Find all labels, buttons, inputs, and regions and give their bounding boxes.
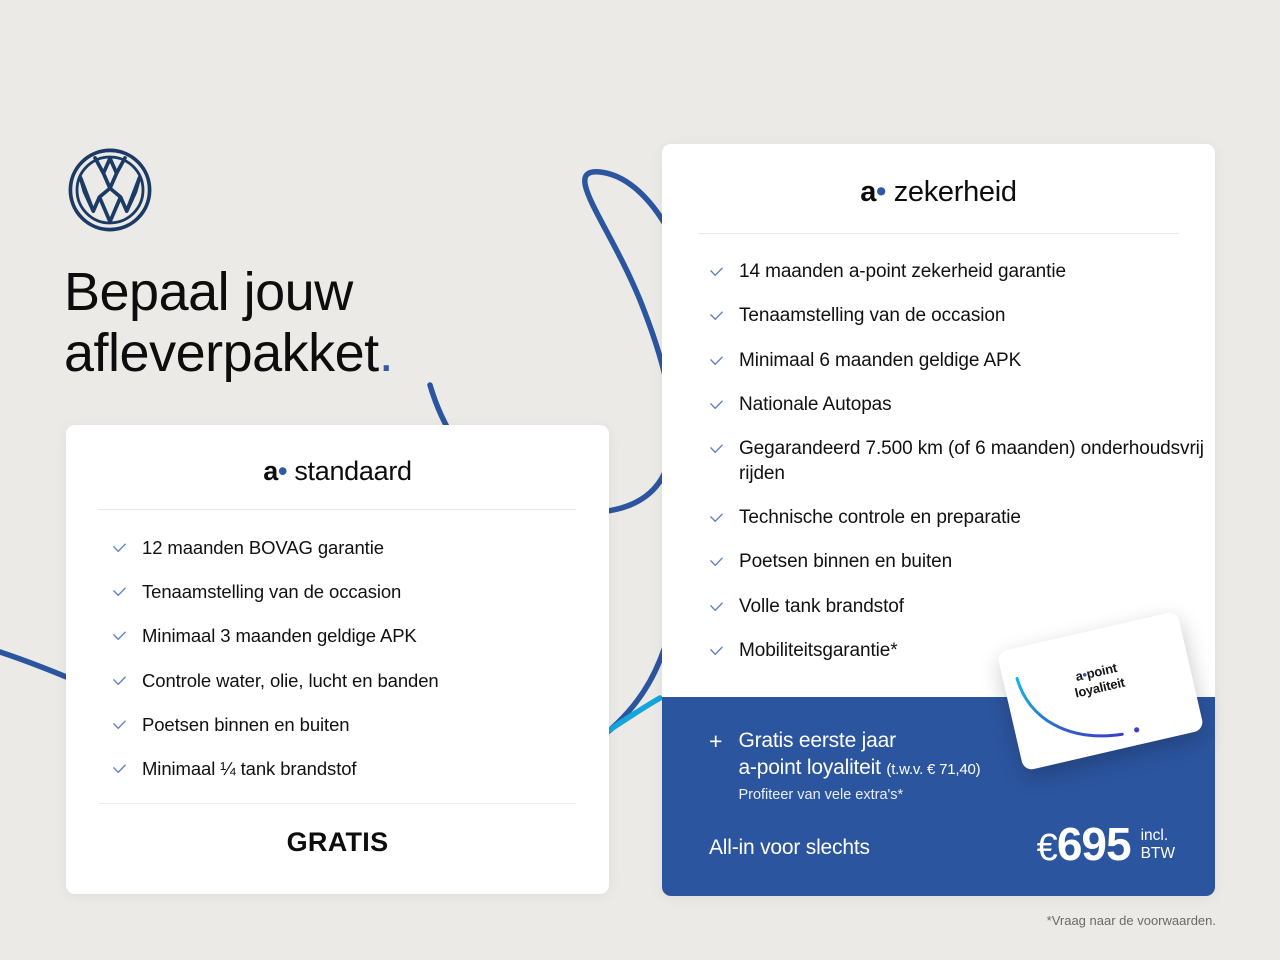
check-icon — [709, 354, 724, 369]
tax-note-line-2: BTW — [1141, 845, 1175, 863]
check-icon — [709, 600, 724, 615]
check-icon — [112, 629, 127, 644]
list-item: Poetsen binnen en buiten — [709, 550, 1215, 574]
headline-line-1: Bepaal jouw — [64, 262, 353, 322]
list-item: Technische controle en preparatie — [709, 506, 1215, 530]
list-item-label: Tenaamstelling van de occasion — [739, 304, 1005, 328]
list-item: Minimaal ¼ tank brandstof — [112, 757, 609, 781]
price-row: All-in voor slechts €695 incl. BTW — [709, 823, 1175, 866]
brand-a: a — [860, 176, 876, 208]
headline-dot: . — [379, 323, 394, 383]
list-item-label: Nationale Autopas — [739, 393, 892, 417]
list-item: Tenaamstelling van de occasion — [709, 304, 1215, 328]
list-item: Poetsen binnen en buiten — [112, 713, 609, 737]
price-label: All-in voor slechts — [709, 836, 870, 866]
list-item-label: 12 maanden BOVAG garantie — [142, 536, 384, 560]
card-divider — [99, 509, 576, 510]
feature-list-standaard: 12 maanden BOVAG garantie Tenaamstelling… — [112, 536, 609, 781]
list-item-label: Poetsen binnen en buiten — [142, 713, 349, 737]
check-icon — [112, 674, 127, 689]
list-item-label: Minimaal ¼ tank brandstof — [142, 757, 356, 781]
currency-symbol: € — [1037, 827, 1057, 869]
volkswagen-logo-icon — [66, 146, 154, 234]
price-amount: 695 — [1057, 818, 1131, 870]
tax-note: incl. BTW — [1141, 823, 1175, 863]
list-item: 14 maanden a-point zekerheid garantie — [709, 260, 1215, 284]
card-divider — [699, 233, 1178, 234]
card-title-zekerheid: a• zekerheid — [662, 144, 1215, 209]
list-item: Minimaal 6 maanden geldige APK — [709, 349, 1215, 373]
check-icon — [112, 541, 127, 556]
plus-icon: + — [709, 730, 722, 803]
headline-line-2: afleverpakket — [64, 323, 379, 383]
bonus-line-1: Gratis eerste jaar — [738, 728, 980, 755]
list-item-label: Mobiliteitsgarantie* — [739, 639, 898, 663]
list-item-label: Poetsen binnen en buiten — [739, 550, 952, 574]
page-title: Bepaal jouw afleverpakket. — [64, 262, 393, 384]
list-item: Gegarandeerd 7.500 km (of 6 maanden) ond… — [709, 437, 1215, 486]
brand-dot-icon: • — [876, 176, 886, 208]
bonus-line-3: Profiteer van vele extra's* — [738, 787, 980, 803]
card-title-standaard: a• standaard — [66, 425, 609, 487]
list-item-label: Volle tank brandstof — [739, 595, 904, 619]
footnote: *Vraag naar de voorwaarden. — [1047, 913, 1216, 928]
list-item: 12 maanden BOVAG garantie — [112, 536, 609, 560]
list-item-label: Minimaal 3 maanden geldige APK — [142, 624, 417, 648]
tax-note-line-1: incl. — [1141, 827, 1175, 845]
list-item-label: Technische controle en preparatie — [739, 506, 1021, 530]
brand-a: a — [263, 456, 278, 486]
check-icon — [709, 644, 724, 659]
bonus-line-2-main: a-point loyaliteit — [738, 756, 880, 779]
check-icon — [112, 585, 127, 600]
card-title-text: standaard — [287, 456, 412, 486]
list-item: Controle water, olie, lucht en banden — [112, 669, 609, 693]
list-item: Nationale Autopas — [709, 393, 1215, 417]
check-icon — [709, 265, 724, 280]
check-icon — [709, 442, 724, 457]
list-item: Minimaal 3 maanden geldige APK — [112, 624, 609, 648]
list-item-label: 14 maanden a-point zekerheid garantie — [739, 260, 1066, 284]
brand-dot-icon: • — [278, 456, 287, 486]
check-icon — [112, 762, 127, 777]
price-standaard: GRATIS — [66, 827, 609, 858]
check-icon — [709, 555, 724, 570]
list-item-label: Controle water, olie, lucht en banden — [142, 669, 439, 693]
check-icon — [709, 511, 724, 526]
check-icon — [709, 309, 724, 324]
bonus-line-2-note: (t.w.v. € 71,40) — [886, 761, 980, 778]
page-canvas: Bepaal jouw afleverpakket. a• standaard … — [0, 0, 1280, 960]
package-card-standaard[interactable]: a• standaard 12 maanden BOVAG garantie T… — [66, 425, 609, 894]
check-icon — [112, 718, 127, 733]
package-card-zekerheid[interactable]: a• zekerheid 14 maanden a-point zekerhei… — [662, 144, 1215, 896]
list-item-label: Gegarandeerd 7.500 km (of 6 maanden) ond… — [739, 437, 1215, 486]
list-item: Volle tank brandstof — [709, 595, 1215, 619]
check-icon — [709, 398, 724, 413]
list-item: Tenaamstelling van de occasion — [112, 580, 609, 604]
bonus-block: + Gratis eerste jaar a-point loyaliteit … — [709, 728, 980, 803]
list-item-label: Minimaal 6 maanden geldige APK — [739, 349, 1021, 373]
feature-list-zekerheid: 14 maanden a-point zekerheid garantie Te… — [709, 260, 1215, 663]
price-value: €695 — [1037, 823, 1131, 866]
card-title-text: zekerheid — [886, 176, 1017, 208]
price-divider — [99, 803, 576, 804]
list-item-label: Tenaamstelling van de occasion — [142, 580, 401, 604]
